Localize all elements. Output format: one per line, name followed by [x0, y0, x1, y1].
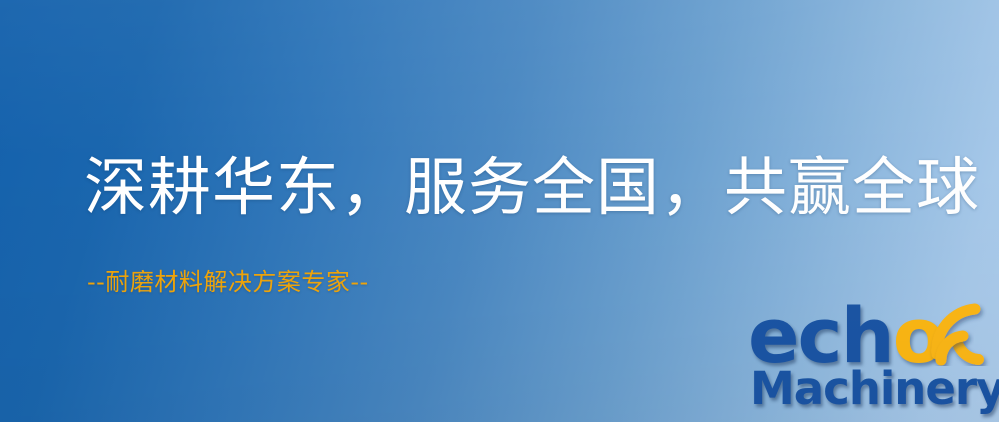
echo-machinery-logo[interactable]: echo Machinery®	[742, 296, 999, 422]
logo-subword: Machinery®	[750, 366, 999, 411]
banner-headline: 深耕华东，服务全国，共赢全球	[84, 155, 980, 222]
promo-banner: 深耕华东，服务全国，共赢全球 --耐磨材料解决方案专家-- echo	[0, 0, 999, 422]
signal-wave-icon	[925, 294, 999, 366]
banner-subtitle: --耐磨材料解决方案专家--	[87, 268, 369, 297]
logo-subword-text: Machinery	[750, 362, 999, 415]
